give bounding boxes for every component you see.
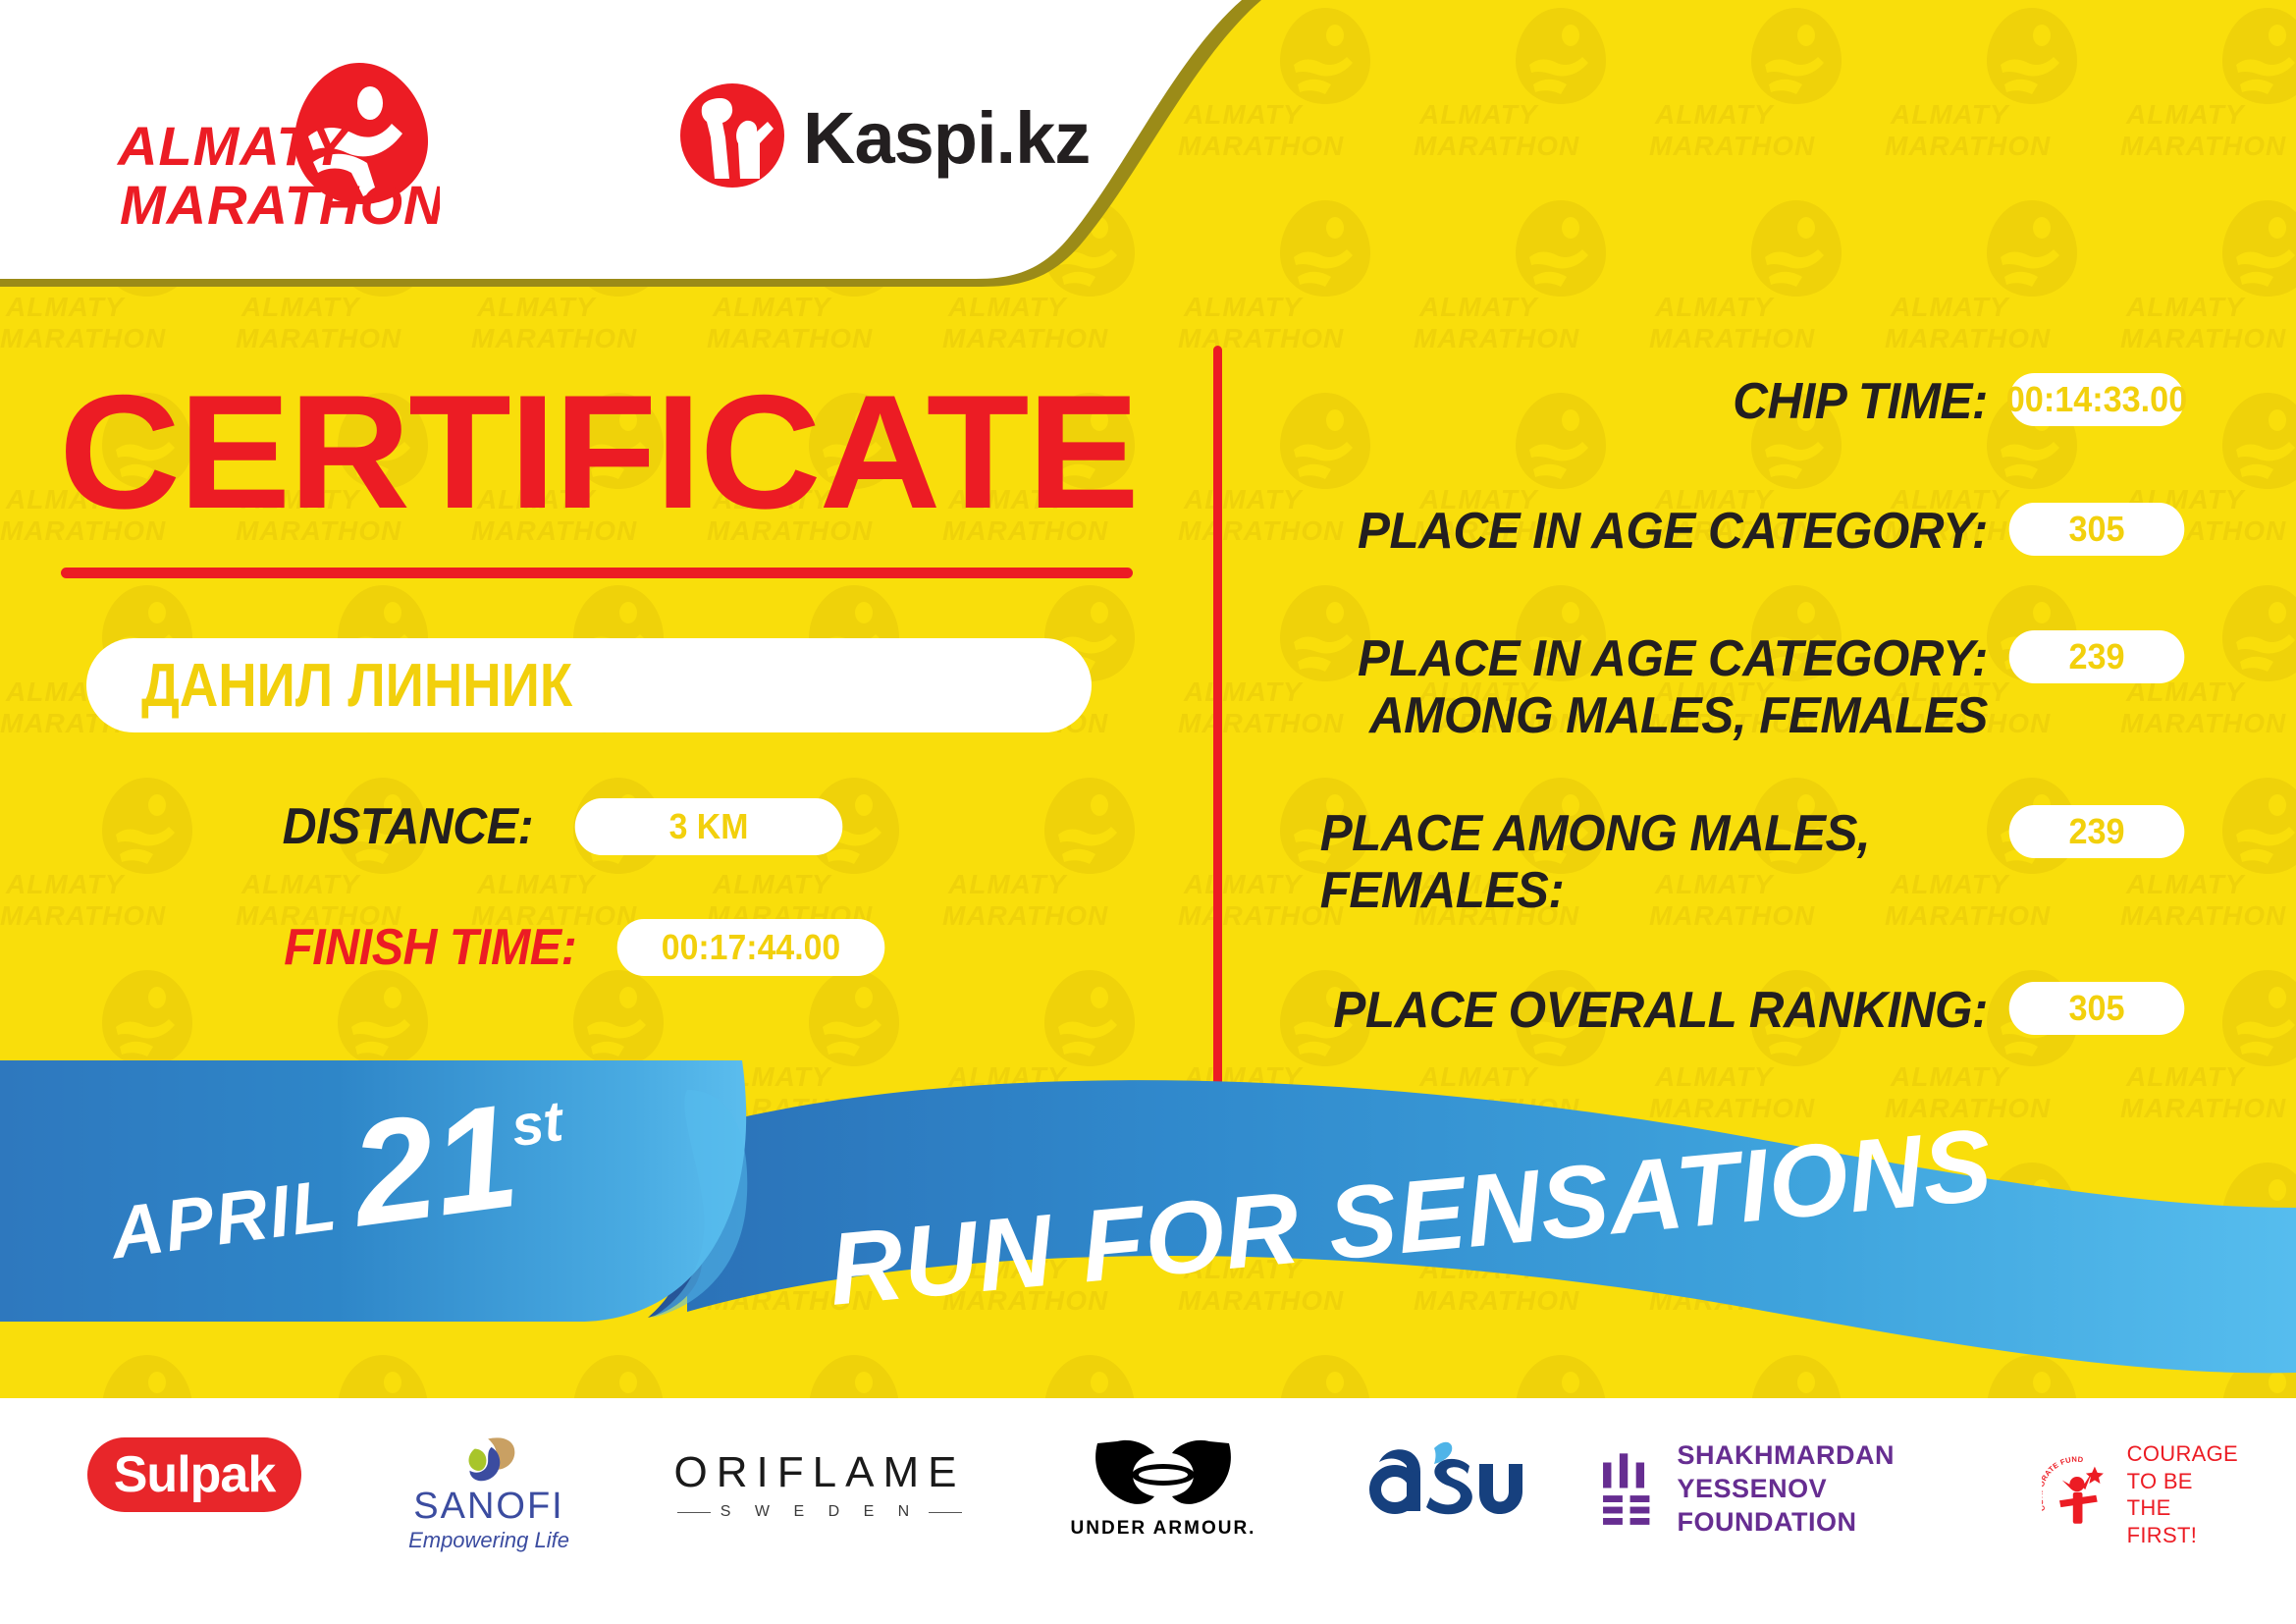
sponsor-courage-fund: CORPORATE FUND COURAGE TO BE THE FIRST!	[2042, 1435, 2238, 1553]
sulpak-label: Sulpak	[114, 1445, 276, 1504]
certificate-canvas: ALMATY MARATHON ALMATY MARA	[0, 0, 2296, 1624]
sponsor-yessenov-foundation: SHAKHMARDAN YESSENOV FOUNDATION	[1600, 1435, 1963, 1543]
yessenov-label-line1: SHAKHMARDAN YESSENOV	[1678, 1439, 1963, 1506]
finish-time-label: FINISH TIME:	[284, 918, 576, 977]
sponsor-sanofi: SANOFI Empowering Life	[381, 1435, 597, 1553]
sponsor-under-armour: UNDER ARMOUR.	[1070, 1435, 1256, 1543]
kaspi-wordmark: Kaspi.kz	[803, 97, 1090, 179]
sulpak-logo: Sulpak	[87, 1437, 301, 1512]
place-overall-row: PLACE OVERALL RANKING: 305	[1276, 982, 2189, 1039]
page-title: CERTIFICATE	[59, 371, 1138, 533]
kaspi-logo: Kaspi.kz	[677, 77, 1090, 194]
place-among-gender-value: 239	[2009, 805, 2185, 858]
under-armour-logo-mark	[1090, 1439, 1237, 1512]
oriflame-tagline: S W E D E N	[711, 1503, 929, 1521]
column-divider	[1213, 346, 1222, 1097]
place-age-category-value: 305	[2009, 503, 2185, 556]
place-age-category-gender-label: PLACE IN AGE CATEGORY: AMONG MALES, FEMA…	[1312, 630, 2004, 744]
sanofi-logo-mark	[445, 1435, 533, 1486]
distance-value: 3 KM	[574, 798, 842, 855]
courage-label-line2: TO BE	[2127, 1468, 2238, 1495]
place-age-category-gender-value: 239	[2009, 630, 2185, 683]
sponsor-oriflame: ORIFLAME S W E D E N	[677, 1435, 962, 1534]
place-age-category-gender-row: PLACE IN AGE CATEGORY: AMONG MALES, FEMA…	[1276, 630, 2189, 744]
place-among-gender-label: PLACE AMONG MALES, FEMALES:	[1312, 805, 2004, 919]
oriflame-rule-left	[677, 1512, 711, 1513]
title-underline	[61, 568, 1133, 578]
distance-row: DISTANCE: 3 KM	[273, 797, 851, 856]
event-day-suffix: st	[507, 1088, 566, 1160]
chip-time-row: CHIP TIME: 00:14:33.00	[1276, 373, 2189, 430]
chip-time-value: 00:14:33.00	[2009, 373, 2185, 426]
oriflame-label: ORIFLAME	[674, 1448, 966, 1497]
sanofi-label: SANOFI	[413, 1486, 563, 1528]
kaspi-people-icon	[680, 83, 784, 188]
courage-label-line3: THE FIRST!	[2127, 1494, 2238, 1548]
finish-time-row: FINISH TIME: 00:17:44.00	[273, 918, 893, 977]
chip-time-label: CHIP TIME:	[1312, 373, 2004, 430]
event-day: 21	[345, 1089, 524, 1242]
asu-logo-mark	[1360, 1438, 1526, 1521]
logo-text-marathon: MARATHON	[120, 174, 440, 233]
place-age-category-label: PLACE IN AGE CATEGORY:	[1312, 503, 2004, 560]
oriflame-rule-right	[929, 1512, 962, 1513]
logo-text-almaty: ALMATY	[116, 115, 352, 177]
athlete-name-value: ДАНИЛ ЛИННИК	[141, 651, 572, 721]
courage-label-line1: COURAGE	[2127, 1440, 2238, 1468]
athlete-name-field: ДАНИЛ ЛИННИК	[86, 638, 1092, 732]
under-armour-label: UNDER ARMOUR.	[1071, 1518, 1256, 1540]
place-overall-value: 305	[2009, 982, 2185, 1035]
sponsor-asu	[1355, 1435, 1531, 1524]
almaty-marathon-logo: ALMATY MARATHON	[116, 61, 440, 233]
yessenov-foundation-logo-mark	[1600, 1442, 1656, 1537]
finish-time-value: 00:17:44.00	[617, 919, 885, 976]
courage-fund-logo-mark: CORPORATE FUND	[2042, 1440, 2115, 1548]
place-age-category-row: PLACE IN AGE CATEGORY: 305	[1276, 503, 2189, 560]
place-among-gender-row: PLACE AMONG MALES, FEMALES: 239	[1276, 805, 2189, 919]
place-overall-label: PLACE OVERALL RANKING:	[1312, 982, 2004, 1039]
sponsor-sulpak: Sulpak	[86, 1435, 302, 1514]
sponsor-footer: Sulpak SANOFI Empowering Life ORIFLAME S…	[0, 1398, 2296, 1624]
yessenov-label-line2: FOUNDATION	[1678, 1506, 1963, 1540]
distance-label: DISTANCE:	[283, 797, 534, 856]
sanofi-tagline: Empowering Life	[408, 1528, 569, 1553]
